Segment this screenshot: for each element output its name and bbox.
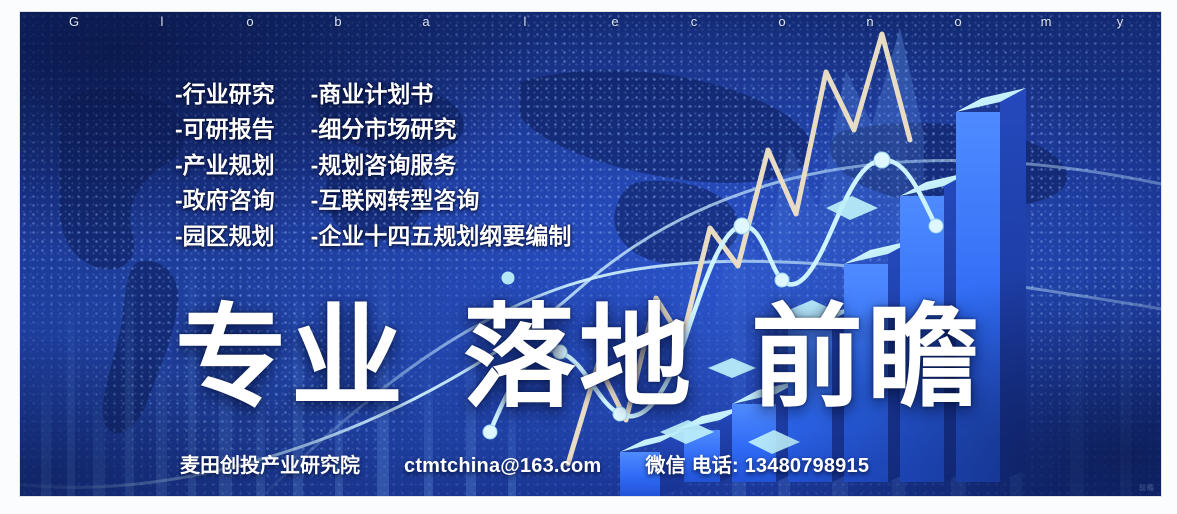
kicker-letter: G	[31, 14, 119, 29]
kicker-letter: c	[651, 14, 739, 29]
service-item: -细分市场研究	[311, 115, 572, 144]
service-item: -园区规划	[175, 222, 275, 251]
footer-contact-row: 麦田创投产业研究院 ctmtchina@163.com 微信 电话: 13480…	[180, 449, 869, 478]
kicker-letter: b	[295, 14, 383, 29]
headline: 专业 落地 前瞻	[175, 304, 983, 412]
headline-word: 前瞻	[751, 304, 983, 412]
contact-phone[interactable]: 微信 电话: 13480798915	[645, 449, 869, 478]
service-list-left-column: -行业研究 -可研报告 -产业规划 -政府咨询 -园区规划	[175, 80, 275, 251]
kicker-letter: o	[207, 14, 295, 29]
service-item: -商业计划书	[311, 80, 572, 109]
contact-email[interactable]: ctmtchina@163.com	[404, 455, 601, 478]
promo-banner: Globaleconomy -行业研究 -可研报告 -产业规划 -政府咨询 -园…	[20, 12, 1161, 496]
kicker-letter: o	[739, 14, 827, 29]
kicker-letter: m	[1003, 14, 1091, 29]
kicker-letter: e	[581, 14, 651, 29]
headline-word: 专业	[175, 304, 407, 412]
organization-name: 麦田创投产业研究院	[180, 449, 360, 478]
kicker-letter: a	[383, 14, 471, 29]
kicker-letter: n	[827, 14, 915, 29]
service-list-right-column: -商业计划书 -细分市场研究 -规划咨询服务 -互联网转型咨询 -企业十四五规划…	[311, 80, 572, 251]
service-item: -可研报告	[175, 115, 275, 144]
kicker-global-economy: Globaleconomy	[20, 14, 1161, 29]
service-item: -规划咨询服务	[311, 151, 572, 180]
service-list: -行业研究 -可研报告 -产业规划 -政府咨询 -园区规划 -商业计划书 -细分…	[175, 80, 571, 251]
watermark-text: 前瞻	[1139, 483, 1155, 493]
service-item: -产业规划	[175, 151, 275, 180]
service-item: -政府咨询	[175, 186, 275, 215]
service-item: -互联网转型咨询	[311, 186, 572, 215]
service-item: -企业十四五规划纲要编制	[311, 222, 572, 251]
kicker-letter: l	[119, 14, 207, 29]
service-item: -行业研究	[175, 80, 275, 109]
headline-word: 落地	[463, 304, 695, 412]
kicker-letter: o	[915, 14, 1003, 29]
kicker-letter: y	[1091, 14, 1151, 29]
screenshot-root: Globaleconomy -行业研究 -可研报告 -产业规划 -政府咨询 -园…	[0, 0, 1177, 514]
kicker-letter: l	[471, 14, 581, 29]
